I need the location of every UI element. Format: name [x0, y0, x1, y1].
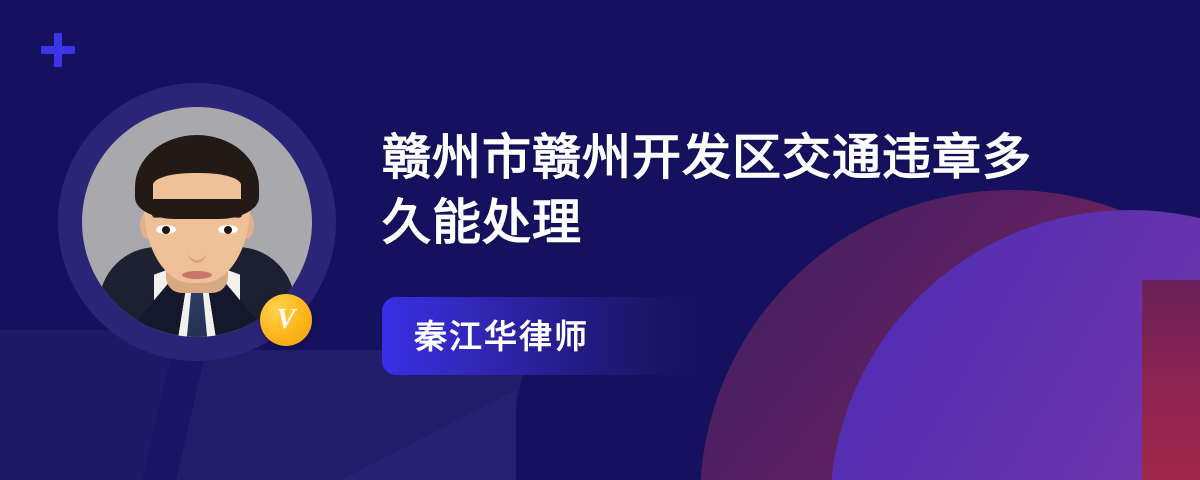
portrait-eye-left [156, 225, 176, 234]
lawyer-article-banner: V 赣州市赣州开发区交通违章多久能处理 秦江华律师 [0, 0, 1200, 480]
headline-block: 赣州市赣州开发区交通违章多久能处理 [382, 126, 1082, 255]
lawyer-name-label: 秦江华律师 [414, 320, 589, 353]
right-edge-arc-strip [1142, 280, 1200, 480]
page-title: 赣州市赣州开发区交通违章多久能处理 [382, 126, 1062, 255]
lawyer-name-pill: 秦江华律师 [382, 297, 712, 375]
portrait-hair [135, 135, 259, 219]
plus-icon [41, 33, 75, 67]
verified-badge-icon: V [260, 294, 312, 346]
avatar: V [58, 83, 336, 361]
polygon-shape-b [132, 352, 205, 480]
portrait-nose [188, 241, 206, 263]
portrait-eye-right [218, 225, 238, 234]
polygon-shape-d [186, 390, 516, 480]
verified-badge-glyph: V [277, 306, 296, 334]
portrait-mouth [182, 271, 212, 279]
